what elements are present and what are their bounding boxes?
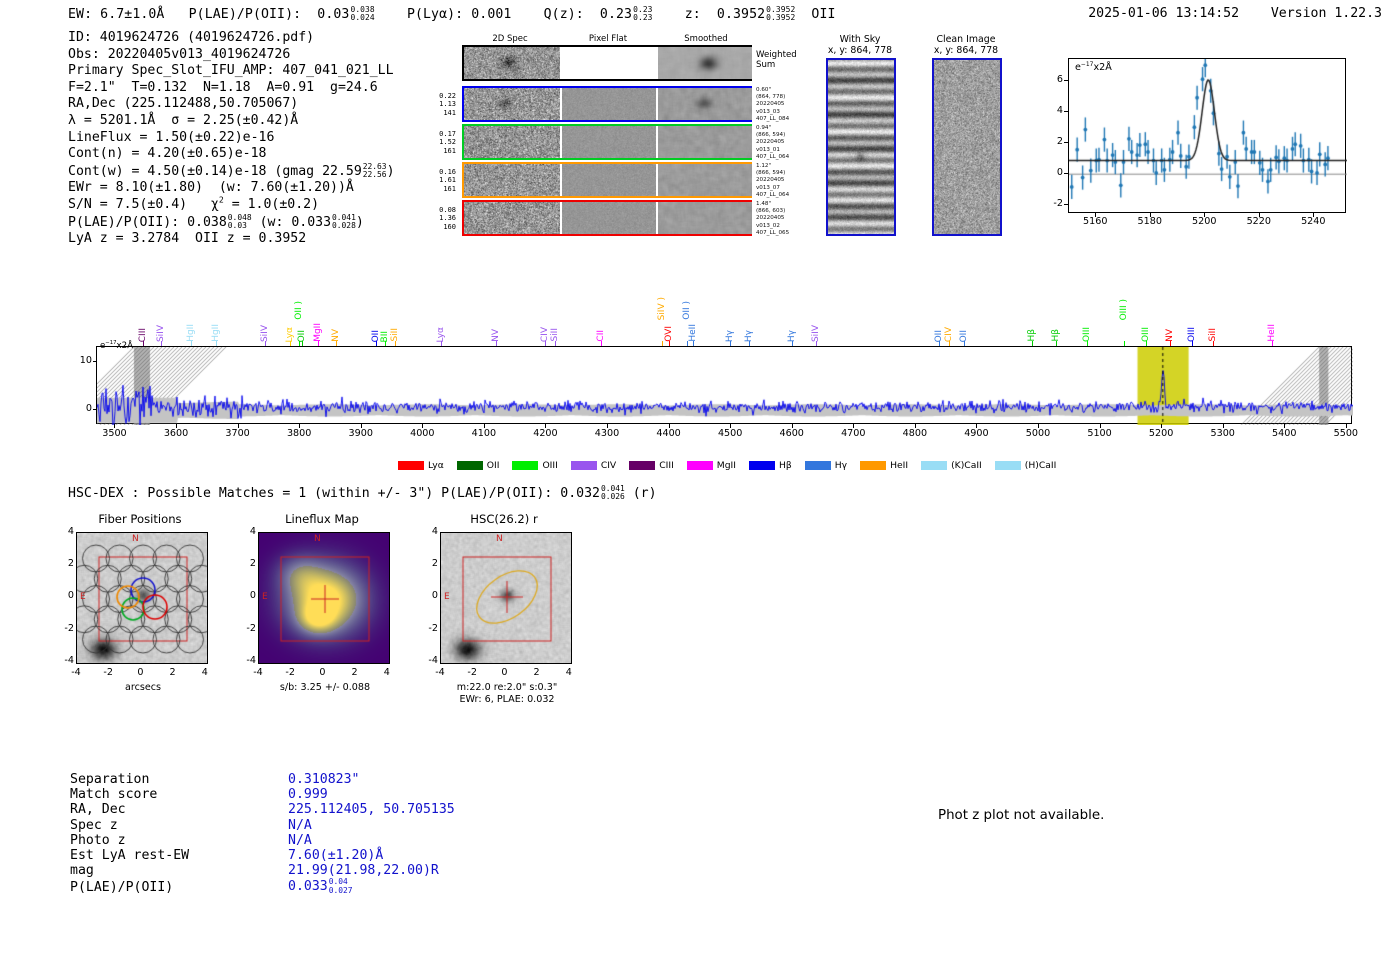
cutout-ytick: 0 [410,590,438,601]
cutout-ytick: -2 [46,623,74,634]
zoom-plot-frame [1068,58,1346,213]
spectrum-xtick: 4700 [823,428,883,439]
spec2d-fiber-row [462,200,752,236]
match-table-row: RA, Dec225.112405, 50.705135 [70,802,455,817]
cutout-xtick: -4 [425,667,455,678]
cutout-caption: arcsecs [54,682,232,694]
spectrum-xtick: 5400 [1254,428,1314,439]
spectrum-line-label: SiII [550,328,560,342]
spec2d-row-stat: 0.16 [420,168,456,176]
cutout-caption-line: EWr: 6, PLAE: 0.032 [418,694,596,706]
legend-swatch [629,461,655,470]
header-qz-label: Q(z): [544,7,584,22]
spectrum-xtick-mark [1223,424,1224,428]
param-id: ID: 4019624726 (4019624726.pdf) [68,30,395,47]
spec2d-row-meta-line: 0.60" [756,87,789,94]
legend-label: Hγ [835,460,847,471]
spec2d-row-meta-line: 20220405 [756,215,789,222]
with-sky-canvas [828,60,894,234]
legend-label: Lyα [428,460,444,471]
param-redshifts: LyA z = 3.2784 OII z = 0.3952 [68,231,395,248]
spec2d-title-smoothed: Smoothed [658,34,754,44]
hscdex-lo: 0.026 [601,493,625,501]
legend-swatch [921,461,947,470]
spectrum-xtick-mark [361,424,362,428]
spec2d-fiber-row [462,124,752,160]
spectrum-units: e−17x2Å [100,341,133,351]
match-table-row: P(LAE)/P(OII)0.0330.040.027 [70,878,455,894]
legend-item: CIV [571,460,616,471]
spectrum-xtick: 5200 [1131,428,1191,439]
match-table-row: Separation0.310823" [70,772,455,787]
spectrum-xtick-mark [1284,424,1285,428]
cutout-ytick: 4 [46,526,74,537]
spec2d-row-meta-line: (866, 594) [756,132,789,139]
cutout-ytick: -2 [410,623,438,634]
legend-item: Hβ [749,460,792,471]
hscdex-summary: HSC-DEX : Possible Matches = 1 (within +… [68,485,657,501]
match-table-label: Separation [70,772,288,787]
spec2d-titles: 2D Spec Pixel Flat Smoothed [462,34,752,45]
zoom-ytick-mark [1064,173,1068,174]
with-sky-caption: With Sky x, y: 864, 778 [815,34,905,56]
spectrum-line-label: SiIV [811,325,821,342]
zoom-ytick: 6 [1035,74,1063,85]
spectrum-ytick: 0 [62,403,92,414]
spec2d-title-2dspec: 2D Spec [462,34,558,44]
spec2d-row-smoothed [658,88,752,120]
spec2d-row-meta-line: (866, 594) [756,170,789,177]
spectrum-xtick-mark [545,424,546,428]
timestamp-value: 2025-01-06 13:14:52 [1088,6,1239,21]
spectrum-xtick-mark [730,424,731,428]
spec2d-row-2dspec [464,126,560,158]
header-qz-value: 0.23 [600,7,632,22]
zoom-xtick: 5240 [1291,216,1335,227]
cutout-xtick: -2 [457,667,487,678]
spec2d-row-meta: 0.94"(866, 594)20220405v013_01407_LL_064 [756,125,789,161]
zoom-xtick: 5160 [1073,216,1117,227]
legend-swatch [571,461,597,470]
photz-message: Phot z plot not available. [938,808,1104,823]
version-label: Version 1.22.3 [1271,6,1382,21]
spectrum-xtick: 3600 [146,428,206,439]
zoom-plot-units: e−17x2Å [1075,62,1112,73]
spectrum-xtick: 5100 [1070,428,1130,439]
param-plae-poii: P(LAE)/P(OII): 0.0380.0480.03 (w: 0.0330… [68,214,395,232]
legend-swatch [512,461,538,470]
spec2d-row-meta-line: 0.94" [756,125,789,132]
spectrum-xtick: 4900 [946,428,1006,439]
spec2d-row-meta-line: v013_03 [756,109,789,116]
cutout-image [258,532,390,664]
spectrum-xtick: 4500 [700,428,760,439]
spectrum-xtick-mark [792,424,793,428]
match-table-row: Match score0.999 [70,787,455,802]
spectrum-line-label: OIII ) [1119,299,1129,320]
spectrum-xtick-mark [976,424,977,428]
cutout-ytick: -4 [46,655,74,666]
match-table-value-range: 0.040.027 [329,878,353,894]
spectrum-xtick-mark [422,424,423,428]
compass-north: N [314,534,321,544]
param-cont-n: Cont(n) = 4.20(±0.65)e-18 [68,146,395,163]
spec2d-row-stat: 161 [420,185,456,193]
match-table-label: Match score [70,787,288,802]
header-plae-value: 0.03 [317,7,349,22]
cutout-canvas [259,533,390,664]
compass-north: N [496,534,503,544]
spectrum-xtick-mark [915,424,916,428]
spec2d-row-stat: 0.22 [420,92,456,100]
spec2d-row-smoothed [658,126,752,158]
cutout-title: HSC(26.2) r [424,512,584,526]
legend-item: (H)CaII [995,460,1057,471]
spec2d-row-meta-line: (866, 603) [756,208,789,215]
match-table-label: Est LyA rest-EW [70,848,288,863]
param-seeing: F=2.1" T=0.132 N=1.18 A=0.91 g=24.6 [68,80,395,97]
with-sky-image [826,58,896,236]
spec2d-row-stat: 160 [420,223,456,231]
cutout-canvas [441,533,572,664]
cutout-ytick: 0 [228,590,256,601]
cutout-ytick: 2 [228,558,256,569]
legend-label: CIV [601,460,616,471]
header-z-value: 0.3952 [717,7,765,22]
cutout-caption-line: s/b: 3.25 +/- 0.088 [236,682,414,694]
legend-label: (K)CaII [951,460,982,471]
legend-label: OII [487,460,500,471]
spectrum-xtick: 5000 [1008,428,1068,439]
legend-label: (H)CaII [1025,460,1057,471]
match-table-label: Spec z [70,818,288,833]
cutout-image [440,532,572,664]
clean-image-caption: Clean Image x, y: 864, 778 [918,34,1014,56]
spectrum-line-labels: CIIISiIVHgIIHgIISiIVLyαOII )OIIMgIINVOII… [0,270,1400,346]
spectrum-line-label: OII ) [294,301,304,320]
spec2d-row-smoothed [658,202,752,234]
compass-east: E [444,592,450,602]
spectrum-line-label: SiII [1208,328,1218,342]
spec2d-row-2dspec [464,164,560,196]
zoom-xtick-mark [1204,213,1205,217]
full-spectrum-canvas [97,347,1353,425]
spec2d-row-meta-line: 407_LL_064 [756,154,789,161]
cutout-ytick: 0 [46,590,74,601]
match-table-value: 225.112405, 50.705135 [288,802,455,817]
header-plya: P(Lyα): 0.001 [407,7,512,22]
spectrum-xtick: 3800 [269,428,329,439]
spec2d-row-meta: 0.60"(864, 778)20220405v013_03407_LL_084 [756,87,789,123]
cutout-xtick: 2 [158,667,188,678]
spectrum-xtick: 3500 [84,428,144,439]
spec2d-fiber-row [462,86,752,122]
timestamp-block: 2025-01-06 13:14:52 Version 1.22.3 [1088,6,1382,21]
spec2d-title-pixelflat: Pixel Flat [560,34,656,44]
spec2d-row-stat: 141 [420,109,456,117]
spectrum-xtick: 5500 [1316,428,1376,439]
param-cont-w: Cont(w) = 4.50(±0.14)e-18 (gmag 22.5922.… [68,163,395,181]
spectrum-xtick-mark [607,424,608,428]
spec2d-row-meta-line: 20220405 [756,101,789,108]
spec2d-row-meta-line: 1.48" [756,201,789,208]
spectrum-line-label: OIII [1082,327,1092,342]
match-table-value: N/A [288,818,312,833]
legend-label: MgII [717,460,736,471]
spectrum-line-label: Lyα [285,327,295,342]
legend-swatch [995,461,1021,470]
spectrum-line-label: CIV [540,327,550,342]
spectrum-legend: LyαOIIOIIICIVCIIIMgIIHβHγHeII(K)CaII(H)C… [398,455,1069,474]
spec2d-row-smoothed [658,164,752,196]
spectrum-xtick-mark [176,424,177,428]
spec2d-row-pixelflat [562,202,656,234]
legend-label: HeII [890,460,908,471]
cutout-xtick: -2 [275,667,305,678]
match-table-row: Photo zN/A [70,833,455,848]
match-table-label: RA, Dec [70,802,288,817]
cutout-xtick: 4 [372,667,402,678]
zoom-ytick-mark [1064,80,1068,81]
zoom-ytick: -2 [1035,198,1063,209]
spec2d-row-stat: 1.36 [420,214,456,222]
spectrum-line-label: MgII [313,323,323,342]
cutout-ytick: -2 [228,623,256,634]
match-table-value: 0.033 [288,880,328,895]
spectrum-ytick-mark [93,409,97,410]
match-table-value: 7.60(±1.20)Å [288,848,383,863]
spectrum-xtick-mark [484,424,485,428]
legend-swatch [398,461,424,470]
param-plae-lo: 0.03 [228,222,252,230]
legend-swatch [687,461,713,470]
zoom-ytick-mark [1064,111,1068,112]
header-qz-lo: 0.23 [633,14,652,22]
spectrum-xtick-mark [669,424,670,428]
header-z-lo: 0.3952 [766,14,795,22]
legend-label: OIII [542,460,557,471]
zoom-ytick: 4 [1035,105,1063,116]
spec2d-row-stat: 1.13 [420,100,456,108]
match-table-value: 0.310823" [288,772,359,787]
spectrum-xtick-mark [114,424,115,428]
spec2d-row-2dspec [464,202,560,234]
compass-east: E [262,592,268,602]
legend-item: OII [457,460,500,471]
zoom-ytick-mark [1064,142,1068,143]
spec2d-row-meta: 1.48"(866, 603)20220405v013_02407_LL_065 [756,201,789,237]
spec2d-row-left-stats: 0.221.13141 [420,92,456,117]
spec2d-row-meta-line: v013_07 [756,185,789,192]
spec2d-weighted-pixelflat [562,47,656,79]
legend-label: CIII [659,460,674,471]
legend-item: (K)CaII [921,460,982,471]
spectrum-ytick-mark [93,361,97,362]
spectrum-line-label: SiII [390,328,400,342]
match-table-row: Est LyA rest-EW7.60(±1.20)Å [70,848,455,863]
param-radec: RA,Dec (225.112488,50.705067) [68,96,395,113]
spectrum-xtick: 3900 [331,428,391,439]
spec2d-row-meta-line: 20220405 [756,139,789,146]
spec2d-row-pixelflat [562,126,656,158]
cutout-xtick: -2 [93,667,123,678]
cutout-xtick: 0 [307,667,337,678]
legend-swatch [860,461,886,470]
zoom-xtick-mark [1259,213,1260,217]
spec2d-row-stat: 1.61 [420,176,456,184]
legend-swatch [805,461,831,470]
spectrum-line-label: CIII [138,328,148,342]
spec2d-row-meta-line: 407_LL_064 [756,192,789,199]
spectrum-xtick: 5300 [1193,428,1253,439]
match-table-label: mag [70,863,288,878]
header-ew: EW: 6.7±1.0Å [68,7,164,22]
spectrum-line-label: HeII [1267,324,1277,342]
spectrum-xtick: 4400 [639,428,699,439]
spectrum-xtick-mark [1038,424,1039,428]
match-table-value: 21.99(21.98,22.00)R [288,863,439,878]
cutout-ytick: -4 [228,655,256,666]
spec2d-row-meta-line: 1.12" [756,163,789,170]
cutout-xtick: 0 [125,667,155,678]
spectrum-xtick-mark [299,424,300,428]
cutout-title: Lineflux Map [242,512,402,526]
zoom-ytick: 0 [1035,167,1063,178]
cutout-canvas [77,533,208,664]
spectrum-xtick-mark [1346,424,1347,428]
zoom-xtick: 5220 [1237,216,1281,227]
zoom-ytick: 2 [1035,136,1063,147]
zoom-xtick: 5200 [1182,216,1226,227]
match-table-value-lo: 0.027 [329,887,353,895]
param-sn-chi2: S/N = 7.5(±0.4) χ2 = 1.0(±0.2) [68,197,395,214]
spectrum-line-label: HgII [186,324,196,342]
spectrum-xtick-mark [853,424,854,428]
header-z-species: OII [811,7,835,22]
cutout-title: Fiber Positions [60,512,220,526]
match-table-value: N/A [288,833,312,848]
spec2d-row-left-stats: 0.161.61161 [420,168,456,193]
spec2d-row-left-stats: 0.081.36160 [420,206,456,231]
spec2d-row-stat: 1.52 [420,138,456,146]
spec2d-weighted-2dspec [464,47,560,79]
spec2d-row-meta-line: v013_02 [756,223,789,230]
param-obs: Obs: 20220405v013_4019624726 [68,47,395,64]
compass-east: E [80,592,86,602]
cutout-image [76,532,208,664]
header-plae-lo: 0.024 [350,14,374,22]
cutout-ytick: 4 [410,526,438,537]
cutout-xtick: -4 [243,667,273,678]
match-table-label: Photo z [70,833,288,848]
spectrum-xtick: 4300 [577,428,637,439]
param-cont-w-lo: 22.56 [363,171,387,179]
legend-item: OIII [512,460,557,471]
header-plae-label: P(LAE)/P(OII): [189,7,302,22]
cutout-panels: Fiber PositionsNE420-2-4-4-2024arcsecsLi… [52,512,632,727]
spectrum-xtick: 4100 [454,428,514,439]
cutout-caption: m:22.0 re:2.0" s:0.3"EWr: 6, PLAE: 0.032 [418,682,596,705]
emission-line-zoom-plot: e−17x2Å -20246 51605180520052205240 [1035,58,1355,238]
cutout-caption: s/b: 3.25 +/- 0.088 [236,682,414,694]
header-summary-line: EW: 6.7±1.0Å P(LAE)/P(OII): 0.030.0380.0… [68,6,836,22]
spectrum-line-label: OII ) [682,301,692,320]
spectrum-xtick: 4600 [762,428,822,439]
legend-item: Hγ [805,460,847,471]
cutout-ytick: -4 [410,655,438,666]
cutout-ytick: 2 [46,558,74,569]
param-lambda: λ = 5201.1Å σ = 2.25(±0.42)Å [68,113,395,130]
spec2d-row-meta-line: 20220405 [756,177,789,184]
spectrum-line-label: OVI [664,326,674,342]
spec2d-row-meta-line: 407_LL_065 [756,230,789,237]
match-table-row: Spec zN/A [70,818,455,833]
spec2d-weighted-smoothed [658,47,752,79]
spectrum-line-label: SiIV ) [657,297,667,320]
match-table: Separation0.310823"Match score0.999RA, D… [70,772,455,895]
match-table-label: P(LAE)/P(OII) [70,880,288,895]
zoom-ytick-mark [1064,204,1068,205]
cutout-ytick: 4 [228,526,256,537]
spectrum-line-label: SiIV [156,325,166,342]
match-table-value: 0.999 [288,787,328,802]
legend-swatch [749,461,775,470]
spec2d-row-stat: 0.17 [420,130,456,138]
spectrum-line-label: HeII [688,324,698,342]
spec2d-weighted-sum-row [462,45,752,81]
spec2d-fiber-row [462,162,752,198]
cutout-xtick: 4 [554,667,584,678]
spec2d-row-left-stats: 0.171.52161 [420,130,456,155]
spec2d-row-stat: 0.08 [420,206,456,214]
cutout-xtick: 2 [340,667,370,678]
spectrum-xtick-mark [1161,424,1162,428]
legend-item: HeII [860,460,908,471]
full-spectrum-frame [96,346,1352,424]
spectrum-xtick: 4800 [885,428,945,439]
parameter-block: ID: 4019624726 (4019624726.pdf) Obs: 202… [68,30,395,248]
zoom-xtick: 5180 [1128,216,1172,227]
spec2d-row-meta-line: v013_01 [756,147,789,154]
zoom-xtick-mark [1313,213,1314,217]
spectrum-line-label: Lyα [436,327,446,342]
legend-label: Hβ [779,460,792,471]
spectrum-line-label: OIII [1187,327,1197,342]
spec2d-row-meta-line: 407_LL_084 [756,116,789,123]
cutout-ytick: 2 [410,558,438,569]
spec2d-row-stat: 161 [420,147,456,155]
spectrum-line-label: HgII [211,324,221,342]
spectrum-xtick-mark [238,424,239,428]
spectrum-xtick-mark [1100,424,1101,428]
param-plae-w-lo: 0.028 [332,222,356,230]
spectrum-xtick: 3700 [208,428,268,439]
param-primary-spec: Primary Spec_Slot_IFU_AMP: 407_041_021_L… [68,63,395,80]
spec2d-row-meta-line: (864, 778) [756,94,789,101]
clean-image [932,58,1002,236]
header-z-label: z: [685,7,701,22]
param-lineflux: LineFlux = 1.50(±0.22)e-16 [68,130,395,147]
spectrum-ytick: 10 [62,355,92,366]
cutout-caption-line: arcsecs [54,682,232,694]
cutout-xtick: -4 [61,667,91,678]
zoom-xtick-mark [1095,213,1096,217]
param-ewr: EWr = 8.10(±1.80) (w: 7.60(±1.20))Å [68,180,395,197]
spec2d-weighted-sum-label: Weighted Sum [756,50,797,70]
spectrum-xtick: 4200 [515,428,575,439]
spec2d-row-meta: 1.12"(866, 594)20220405v013_07407_LL_064 [756,163,789,199]
legend-item: Lyα [398,460,444,471]
